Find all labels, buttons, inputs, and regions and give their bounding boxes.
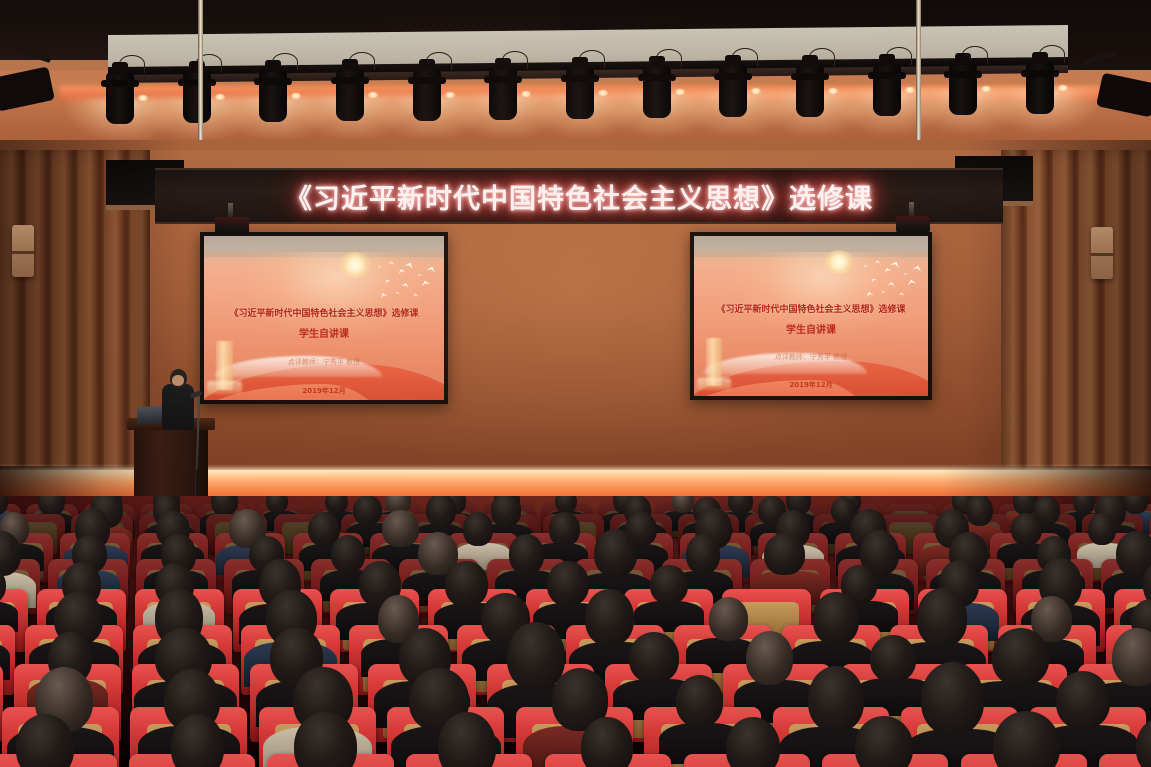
audience-person-head bbox=[426, 496, 456, 527]
slide-date-right: 2019年12月 bbox=[789, 380, 832, 390]
led-banner-text: 《习近平新时代中国特色社会主义思想》选修课 bbox=[285, 177, 873, 216]
stage-light-icon bbox=[336, 69, 364, 121]
audience-person-head bbox=[917, 588, 968, 646]
audience-person-head bbox=[855, 716, 913, 767]
stage-light-icon bbox=[643, 66, 671, 118]
wall-speaker-left bbox=[12, 225, 34, 277]
audience-person-head bbox=[325, 496, 348, 513]
slide-subtitle-right: 学生自讲课 bbox=[786, 321, 836, 336]
audience-person-head bbox=[507, 622, 565, 690]
slide-date-left: 2019年12月 bbox=[302, 386, 345, 396]
slide-presenter-right: 点评教师：宁秀平 教授 bbox=[775, 352, 847, 362]
audience-person-head bbox=[629, 632, 678, 683]
audience-person-head bbox=[650, 565, 688, 604]
slide-presenter-left: 点评教师：宁秀平 教授 bbox=[288, 357, 360, 367]
stage-light-icon bbox=[873, 64, 901, 116]
audience-row bbox=[0, 754, 1151, 767]
audience-person-head bbox=[813, 592, 859, 645]
speaker-person-face bbox=[172, 375, 184, 386]
speaker-person-body bbox=[162, 384, 194, 430]
audience-person-head bbox=[353, 496, 381, 525]
audience-person-head bbox=[581, 717, 634, 767]
audience-person-head bbox=[445, 561, 488, 607]
audience-person-head bbox=[728, 496, 753, 514]
slide-title-left: 《习近平新时代中国特色社会主义思想》选修课 bbox=[229, 306, 418, 319]
right-projection-screen: 《习近平新时代中国特色社会主义思想》选修课 学生自讲课 点评教师：宁秀平 教授 … bbox=[690, 232, 932, 400]
audience-person-head bbox=[921, 662, 983, 735]
audience-person-head bbox=[1056, 671, 1111, 729]
audience-person-head bbox=[549, 512, 579, 545]
audience-person-head bbox=[331, 535, 365, 573]
left-screen-surface: 《习近平新时代中国特色社会主义思想》选修课 学生自讲课 点评教师：宁秀平 教授 … bbox=[204, 236, 444, 400]
audience-person-head bbox=[672, 496, 693, 513]
stage-light-icon bbox=[949, 63, 977, 115]
auditorium-photo: 《习近平新时代中国特色社会主义思想》选修课 《习近平新时代中国特色社会主义思想》… bbox=[0, 0, 1151, 767]
audience-person-head bbox=[746, 631, 793, 685]
slide-title-right: 《习近平新时代中国特色社会主义思想》选修课 bbox=[716, 302, 905, 315]
audience-person-head bbox=[1088, 513, 1116, 545]
stage-light-icon bbox=[1026, 62, 1054, 114]
slide-text-block-left: 《习近平新时代中国特色社会主义思想》选修课 学生自讲课 点评教师：宁秀平 教授 … bbox=[204, 236, 444, 400]
stage-light-icon bbox=[489, 68, 517, 120]
audience-person-head bbox=[382, 510, 418, 547]
audience-person-head bbox=[463, 512, 493, 546]
audience-person-head bbox=[676, 675, 723, 727]
led-banner: 《习近平新时代中国特色社会主义思想》选修课 bbox=[155, 168, 1003, 224]
audience-person-head bbox=[966, 496, 993, 526]
audience-person-head bbox=[491, 496, 521, 527]
stage-light-icon bbox=[796, 65, 824, 117]
audience-person-head bbox=[686, 534, 720, 574]
audience-person-head bbox=[808, 666, 864, 732]
left-projection-screen: 《习近平新时代中国特色社会主义思想》选修课 学生自讲课 点评教师：宁秀平 教授 … bbox=[200, 232, 448, 404]
right-screen-surface: 《习近平新时代中国特色社会主义思想》选修课 学生自讲课 点评教师：宁秀平 教授 … bbox=[694, 236, 928, 396]
stage-light-icon bbox=[259, 70, 287, 122]
audience-person-head bbox=[585, 589, 634, 646]
audience-person-head bbox=[594, 529, 637, 577]
stage-light-icon bbox=[106, 72, 134, 124]
stage-light-icon bbox=[566, 67, 594, 119]
stage-light-icon bbox=[413, 69, 441, 121]
wall-speaker-right bbox=[1091, 227, 1113, 279]
audience-person-head bbox=[726, 717, 780, 767]
audience-person-head bbox=[171, 714, 224, 767]
audience-person-head bbox=[992, 628, 1049, 686]
stage-light-icon bbox=[183, 71, 211, 123]
audience-person-head bbox=[547, 561, 588, 606]
audience-person-head bbox=[709, 597, 749, 641]
audience-person-head bbox=[211, 496, 238, 516]
projector-left bbox=[215, 217, 249, 234]
audience-person-head bbox=[1011, 513, 1042, 545]
slide-subtitle-left: 学生自讲课 bbox=[299, 325, 349, 340]
audience-seating-area bbox=[0, 496, 1151, 767]
audience-person-head bbox=[764, 533, 805, 575]
projector-right bbox=[896, 216, 930, 233]
slide-text-block-right: 《习近平新时代中国特色社会主义思想》选修课 学生自讲课 点评教师：宁秀平 教授 … bbox=[694, 236, 928, 396]
stage-light-icon bbox=[719, 65, 747, 117]
audience-person-head bbox=[870, 635, 916, 682]
audience-person-head bbox=[509, 534, 544, 573]
